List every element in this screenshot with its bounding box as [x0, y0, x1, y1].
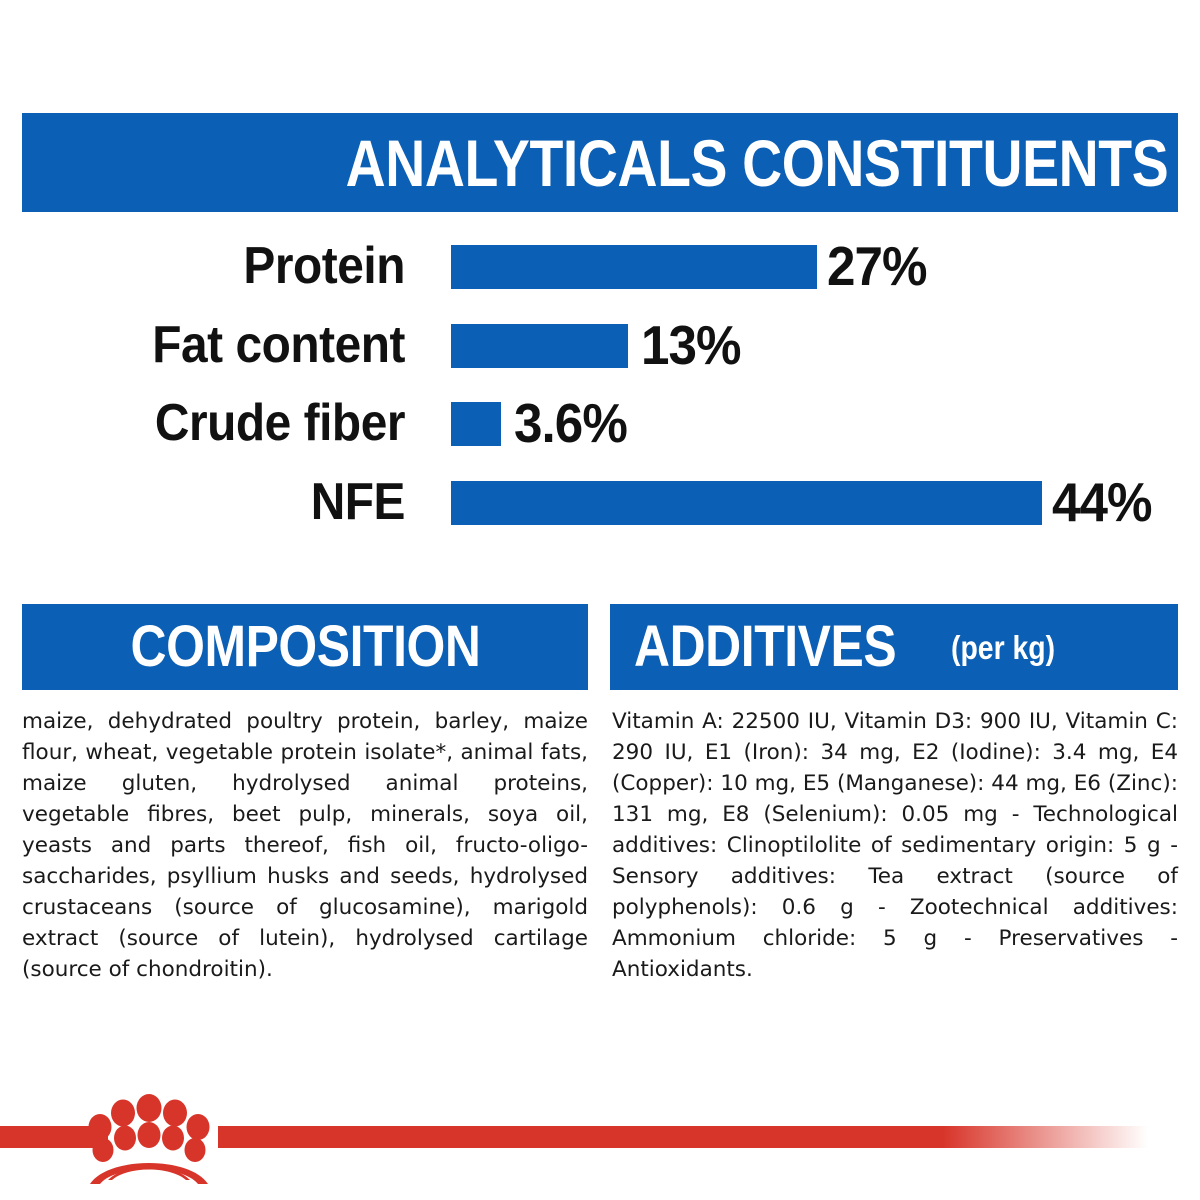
composition-banner: COMPOSITION	[22, 604, 588, 690]
bar-value-nfe: 44%	[1052, 471, 1152, 533]
composition-paragraph: maize, dehydrated poultry protein, barle…	[22, 706, 588, 985]
bar-track-crude-fiber	[451, 402, 501, 446]
analyticals-constituents-banner: ANALYTICALS CONSTITUENTS	[22, 113, 1178, 212]
additives-banner: ADDITIVES (per kg)	[610, 604, 1178, 690]
bar-label-fat-content: Fat content	[32, 314, 405, 376]
additives-per-kg-label: (per kg)	[951, 631, 1055, 664]
bar-fill-crude-fiber	[451, 402, 501, 446]
composition-title: COMPOSITION	[130, 618, 480, 676]
bar-fill-fat-content	[451, 324, 628, 368]
bar-value-crude-fiber: 3.6%	[514, 392, 627, 454]
bar-track-nfe	[451, 481, 1042, 525]
bar-fill-nfe	[451, 481, 1042, 525]
bar-row: Fat content 13%	[0, 314, 1200, 376]
footer-rule-right	[218, 1126, 1148, 1148]
additives-title: ADDITIVES	[634, 618, 896, 676]
additives-text-block: Vitamin A: 22500 IU, Vitamin D3: 900 IU,…	[612, 706, 1178, 985]
bar-fill-protein	[451, 245, 817, 289]
royal-canin-crown-icon	[82, 1094, 216, 1186]
nutrition-info-page: ANALYTICALS CONSTITUENTS Protein 27% Fat…	[0, 0, 1200, 1200]
analyticals-bar-chart: Protein 27% Fat content 13% Crude fiber …	[0, 235, 1200, 545]
bar-track-protein	[451, 245, 817, 289]
bar-row: Protein 27%	[0, 235, 1200, 297]
bar-label-crude-fiber: Crude fiber	[32, 392, 405, 454]
bar-row: NFE 44%	[0, 471, 1200, 533]
additives-paragraph: Vitamin A: 22500 IU, Vitamin D3: 900 IU,…	[612, 706, 1178, 985]
bar-track-fat-content	[451, 324, 628, 368]
page-title: ANALYTICALS CONSTITUENTS	[345, 130, 1168, 196]
bar-label-nfe: NFE	[32, 471, 405, 533]
bar-row: Crude fiber 3.6%	[0, 392, 1200, 454]
bar-value-protein: 27%	[827, 235, 927, 297]
composition-text-block: maize, dehydrated poultry protein, barle…	[22, 706, 588, 985]
bar-value-fat-content: 13%	[641, 314, 741, 376]
bar-label-protein: Protein	[32, 235, 405, 297]
